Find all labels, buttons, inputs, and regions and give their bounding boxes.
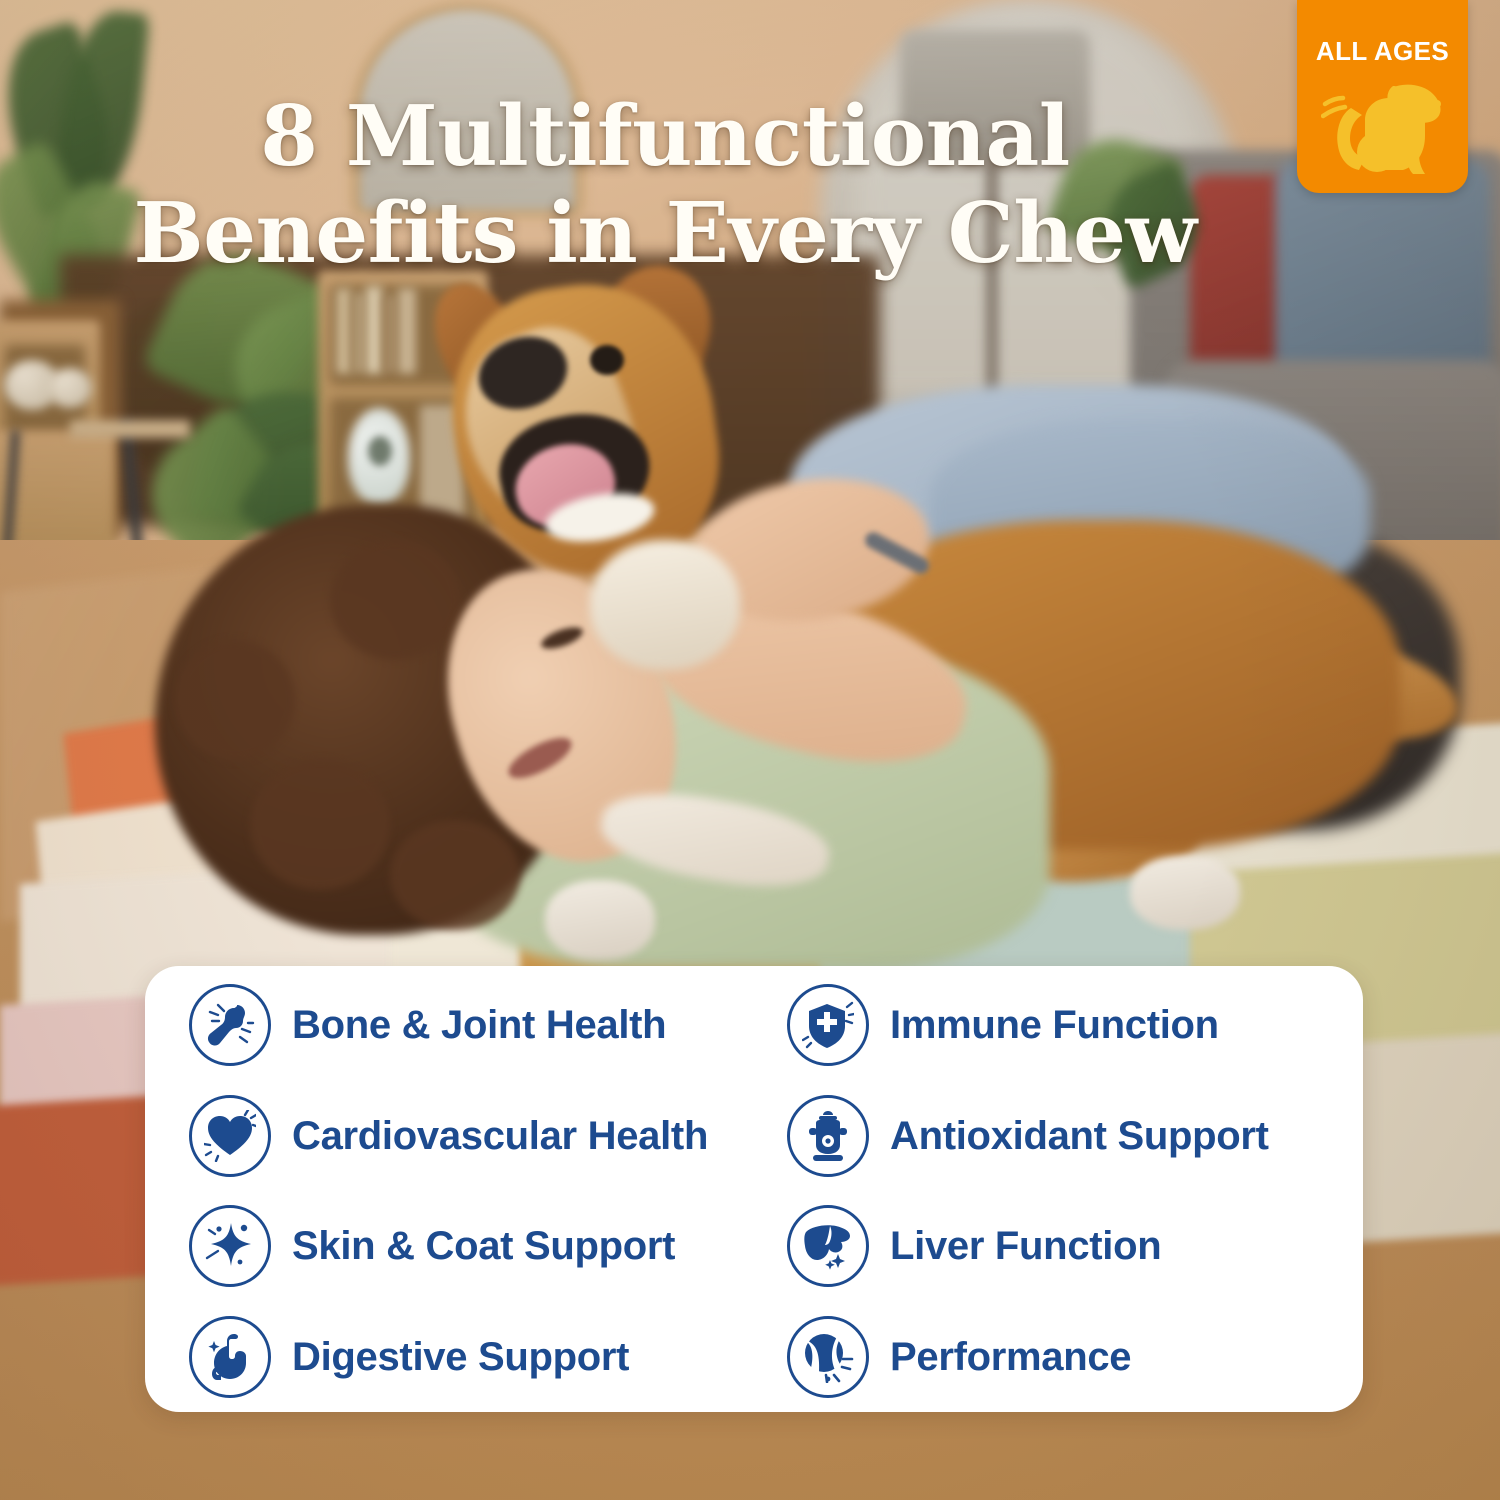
benefits-grid: Bone & Joint Health [145,966,1363,1412]
benefit-label: Performance [890,1337,1131,1377]
benefit-label: Antioxidant Support [890,1116,1269,1156]
sparkle-star-icon [189,1205,271,1287]
benefit-item-skin-coat[interactable]: Skin & Coat Support [145,1205,765,1287]
page-title: 8 Multifunctional Benefits in Every Chew [0,88,1330,282]
benefit-label: Digestive Support [292,1337,629,1377]
heart-icon [189,1095,271,1177]
benefit-label: Immune Function [890,1005,1219,1045]
benefit-item-bone-joint[interactable]: Bone & Joint Health [145,984,765,1066]
benefit-label: Cardiovascular Health [292,1116,708,1156]
benefit-label: Bone & Joint Health [292,1005,666,1045]
benefit-item-cardiovascular[interactable]: Cardiovascular Health [145,1095,765,1177]
all-ages-badge: ALL AGES [1297,0,1468,193]
bone-joint-icon [189,984,271,1066]
benefit-item-liver[interactable]: Liver Function [765,1205,1363,1287]
all-ages-label: ALL AGES [1297,36,1468,67]
benefit-label: Liver Function [890,1226,1161,1266]
sitting-dog-silhouette-icon [1321,74,1445,183]
benefit-label: Skin & Coat Support [292,1226,675,1266]
shield-plus-icon [787,984,869,1066]
product-infographic: 8 Multifunctional Benefits in Every Chew… [0,0,1500,1500]
benefits-card: Bone & Joint Health [145,966,1363,1412]
benefit-item-immune[interactable]: Immune Function [765,984,1363,1066]
ball-motion-icon [787,1316,869,1398]
liver-icon [787,1205,869,1287]
benefit-item-antioxidant[interactable]: Antioxidant Support [765,1095,1363,1177]
benefit-item-performance[interactable]: Performance [765,1316,1363,1398]
benefit-item-digestive[interactable]: Digestive Support [145,1316,765,1398]
stomach-icon [189,1316,271,1398]
fire-hydrant-icon [787,1095,869,1177]
